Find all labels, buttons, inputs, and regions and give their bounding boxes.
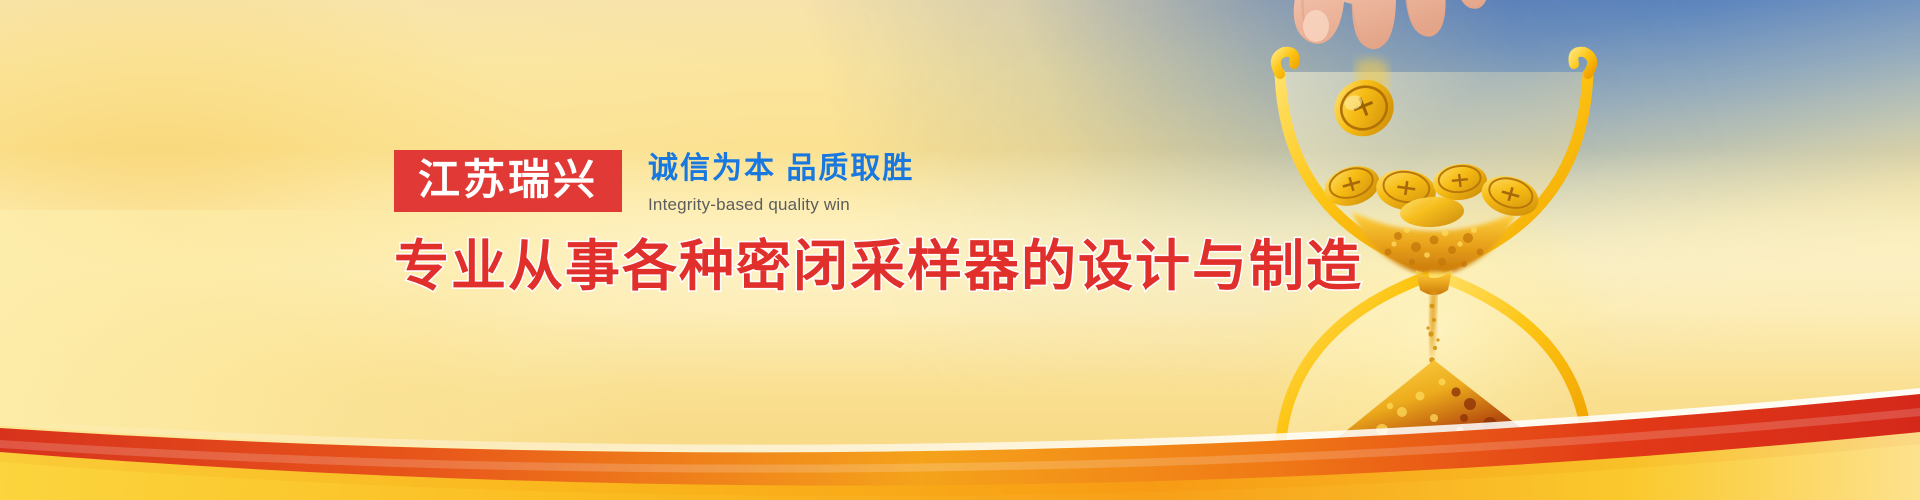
bottom-ribbon-swoosh (0, 370, 1920, 500)
brand-and-slogan-row: 江苏瑞兴 诚信为本 品质取胜 Integrity-based quality w… (394, 150, 1294, 215)
hand-dropping-coin (1294, 0, 1489, 49)
slogan-chinese: 诚信为本 品质取胜 (648, 152, 914, 186)
promo-banner: 江苏瑞兴 诚信为本 品质取胜 Integrity-based quality w… (0, 0, 1920, 500)
slogan-english: Integrity-based quality win (648, 195, 914, 215)
banner-copy: 江苏瑞兴 诚信为本 品质取胜 Integrity-based quality w… (394, 150, 1294, 295)
brand-badge: 江苏瑞兴 (394, 150, 622, 212)
slogan-column: 诚信为本 品质取胜 Integrity-based quality win (648, 150, 914, 215)
headline-text: 专业从事各种密闭采样器的设计与制造 (394, 237, 1294, 295)
